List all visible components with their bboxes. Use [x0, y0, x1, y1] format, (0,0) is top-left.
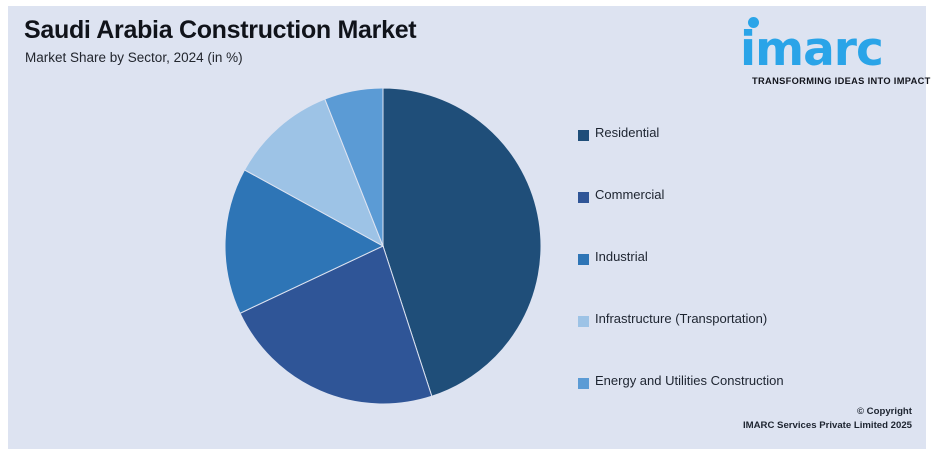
legend-item[interactable]: Commercial: [578, 187, 908, 249]
legend-label: Energy and Utilities Construction: [595, 373, 784, 388]
pie-slice-group: [225, 88, 541, 404]
legend-swatch-icon: [578, 254, 589, 265]
copyright-notice: © Copyright: [743, 405, 912, 419]
legend-label: Residential: [595, 125, 659, 140]
page-subtitle: Market Share by Sector, 2024 (in %): [25, 50, 243, 65]
imarc-logo: imarc TRANSFORMING IDEAS INTO IMPACT: [714, 14, 914, 84]
legend-item[interactable]: Residential: [578, 125, 908, 187]
legend-swatch-icon: [578, 192, 589, 203]
pie-chart: [225, 88, 541, 404]
legend-label: Commercial: [595, 187, 664, 202]
chart-legend: ResidentialCommercialIndustrialInfrastru…: [578, 125, 908, 435]
legend-label: Industrial: [595, 249, 648, 264]
legend-swatch-icon: [578, 378, 589, 389]
copyright-entity: IMARC Services Private Limited 2025: [743, 419, 912, 433]
legend-label: Infrastructure (Transportation): [595, 311, 767, 326]
page-title: Saudi Arabia Construction Market: [24, 16, 416, 45]
copyright-block: © Copyright IMARC Services Private Limit…: [743, 405, 912, 433]
legend-item[interactable]: Industrial: [578, 249, 908, 311]
infographic-canvas: Saudi Arabia Construction Market Market …: [8, 6, 926, 449]
logo-tagline: TRANSFORMING IDEAS INTO IMPACT: [752, 76, 931, 86]
legend-swatch-icon: [578, 316, 589, 327]
legend-swatch-icon: [578, 130, 589, 141]
legend-item[interactable]: Infrastructure (Transportation): [578, 311, 908, 373]
logo-wordmark: imarc: [740, 26, 883, 73]
pie-chart-svg: [225, 88, 541, 404]
